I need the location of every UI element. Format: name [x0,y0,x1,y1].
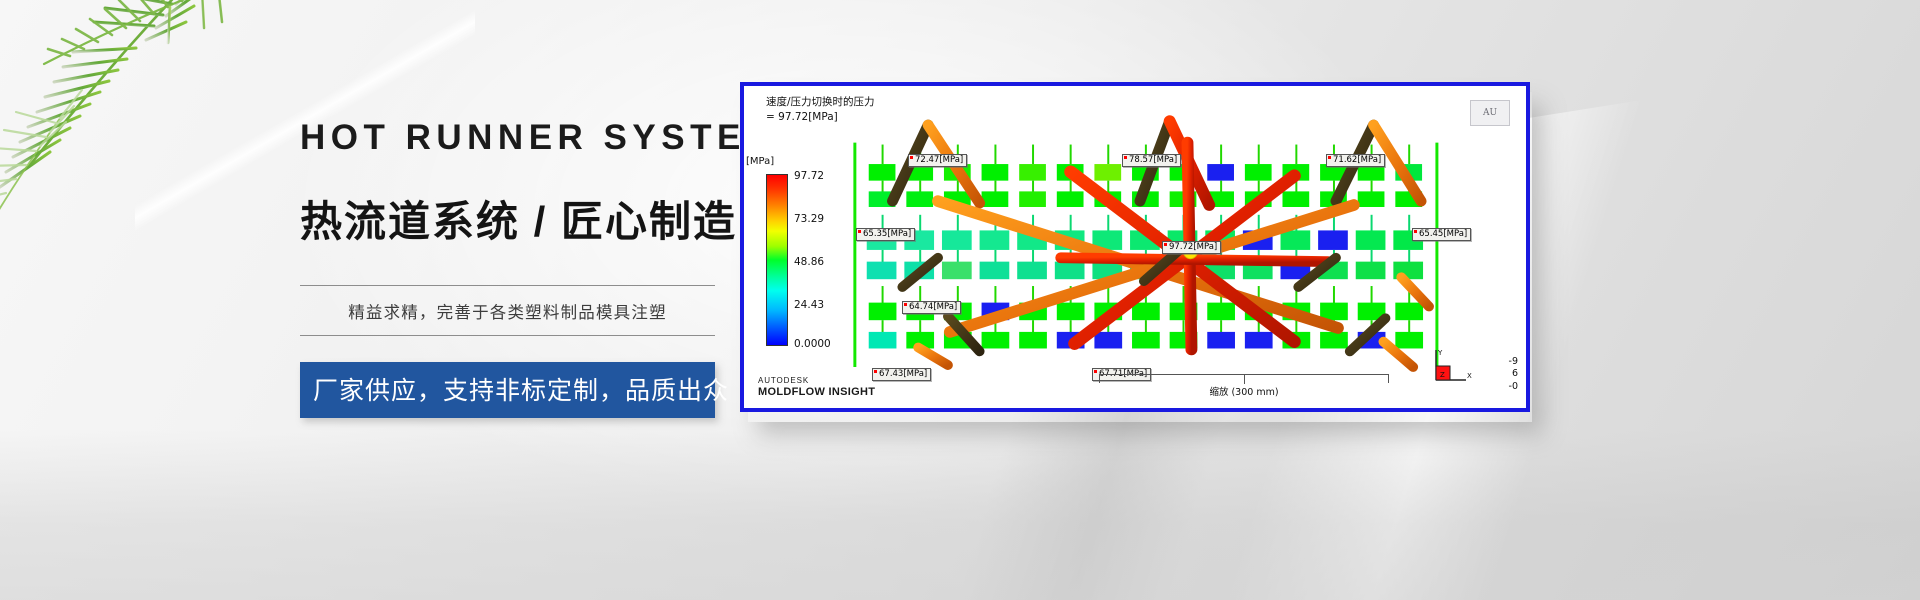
axis-number-z: -0 [1509,381,1518,394]
headline-chinese: 热流道系统 / 匠心制造 [300,201,715,243]
axis-number-x: -9 [1509,356,1518,369]
value-callout-4: 65.35[MPa] [856,228,915,241]
moldflow-figure: 速度/压力切换时的压力 = 97.72[MPa] AU [MPa] 97.72 … [740,82,1530,412]
value-callout-3: 71.62[MPa] [1326,154,1385,167]
headline-english: HOT RUNNER SYSTEM [300,120,715,155]
colorbar-tick-3: 24.43 [794,299,824,311]
cta-badge[interactable]: 厂家供应，支持非标定制，品质出众 [300,362,715,418]
watermark-logo: AU [1470,100,1510,126]
value-callout-7: 64.74[MPa] [902,301,961,314]
value-callout-1: 72.47[MPa] [908,154,967,167]
colorbar-gradient [766,174,788,346]
axis-number-y: 6 [1509,368,1518,381]
headline-block: HOT RUNNER SYSTEM 热流道系统 / 匠心制造 精益求精，完善于各… [300,120,715,418]
scale-reference-bar [1099,374,1389,383]
autodesk-brand: AUTODESK MOLDFLOW INSIGHT [758,376,875,398]
value-callout-2: 78.57[MPa] [1122,154,1181,167]
colorbar: 97.72 73.29 48.86 24.43 0.0000 [766,174,840,346]
banner-root: HOT RUNNER SYSTEM 热流道系统 / 匠心制造 精益求精，完善于各… [0,0,1920,600]
colorbar-tick-2: 48.86 [794,256,824,268]
value-callout-6: 65.45[MPa] [1412,228,1471,241]
scale-reference-label: 缩放 (300 mm) [1099,384,1389,398]
subline-group: 精益求精，完善于各类塑料制品模具注塑 [300,285,715,336]
palm-leaf-icon [0,0,270,290]
svg-text:Y: Y [1437,349,1443,357]
value-callout-8: 67.43[MPa] [872,368,931,381]
moldflow-plot [744,86,1526,408]
svg-text:X: X [1467,372,1472,380]
brand-autodesk: AUTODESK [758,376,875,385]
divider-bottom [300,335,715,336]
value-callout-5: 97.72[MPa] [1162,241,1221,254]
colorbar-unit-label: [MPa] [746,156,774,167]
colorbar-tick-0: 97.72 [794,170,824,182]
figure-title: 速度/压力切换时的压力 = 97.72[MPa] [766,95,875,125]
subline-text: 精益求精，完善于各类塑料制品模具注塑 [300,286,715,335]
colorbar-tick-1: 73.29 [794,213,824,225]
brand-moldflow-insight: MOLDFLOW INSIGHT [758,386,875,398]
svg-text:Z: Z [1440,371,1445,379]
axis-coordinate-readout: -9 6 -0 [1509,356,1518,394]
colorbar-tick-4: 0.0000 [794,338,831,350]
scale-reference: 缩放 (300 mm) [1099,374,1389,398]
axis-triad-icon: Y X Z [1422,344,1474,390]
